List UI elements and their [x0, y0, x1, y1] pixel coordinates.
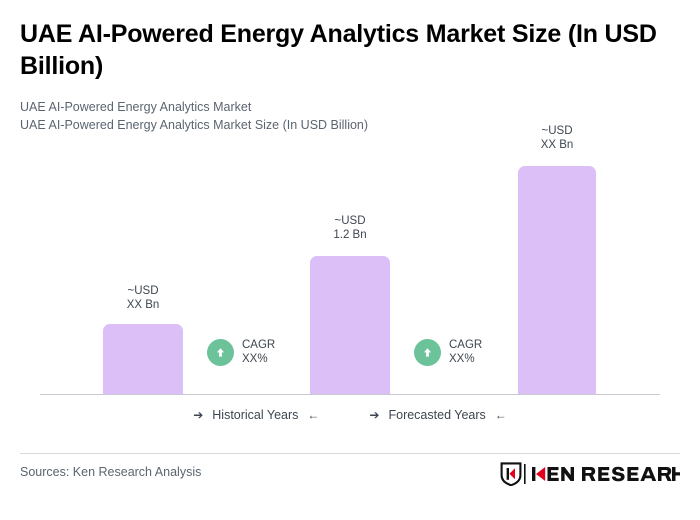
bar-value-label-2-line1: ~USD — [310, 214, 390, 228]
ken-research-logo — [500, 462, 680, 486]
period-legend: ➔ Historical Years ← ➔ Forecasted Years … — [0, 408, 700, 422]
cagr-annotation-1-line1: CAGR — [242, 338, 275, 352]
cagr-annotation-1-line2: XX% — [242, 352, 275, 366]
bar-value-label-2: ~USD 1.2 Bn — [310, 214, 390, 242]
chart-plot-area: ~USD XX Bn ~USD 1.2 Bn ~USD XX Bn CAGR X… — [0, 0, 700, 430]
footer-divider — [20, 453, 680, 454]
bar-value-label-1-line1: ~USD — [103, 284, 183, 298]
ken-research-shield-icon — [500, 462, 522, 486]
cagr-annotation-1-text: CAGR XX% — [242, 338, 275, 366]
ken-research-wordmark — [522, 462, 680, 486]
arrow-up-icon — [414, 339, 441, 366]
cagr-annotation-1: CAGR XX% — [207, 338, 275, 366]
cagr-annotation-2-text: CAGR XX% — [449, 338, 482, 366]
arrow-right-icon: ➔ — [193, 409, 203, 421]
period-forecasted-years-label: Forecasted Years — [388, 408, 485, 422]
arrow-left-icon: ← — [495, 409, 507, 421]
period-historical-years: ➔ Historical Years ← — [193, 408, 319, 422]
bar-3 — [518, 166, 596, 395]
period-historical-years-label: Historical Years — [212, 408, 298, 422]
bar-value-label-3-line2: XX Bn — [518, 138, 596, 152]
cagr-annotation-2-line1: CAGR — [449, 338, 482, 352]
sources-text: Sources: Ken Research Analysis — [20, 465, 201, 479]
bar-value-label-1-line2: XX Bn — [103, 298, 183, 312]
arrow-up-icon — [207, 339, 234, 366]
cagr-annotation-2: CAGR XX% — [414, 338, 482, 366]
bar-value-label-3-line1: ~USD — [518, 124, 596, 138]
bar-1 — [103, 324, 183, 395]
period-forecasted-years: ➔ Forecasted Years ← — [369, 408, 506, 422]
arrow-right-icon: ➔ — [369, 409, 379, 421]
arrow-left-icon: ← — [307, 409, 319, 421]
bar-value-label-1: ~USD XX Bn — [103, 284, 183, 312]
bar-value-label-3: ~USD XX Bn — [518, 124, 596, 152]
axis-baseline — [40, 394, 660, 395]
cagr-annotation-2-line2: XX% — [449, 352, 482, 366]
bar-value-label-2-line2: 1.2 Bn — [310, 228, 390, 242]
bar-2 — [310, 256, 390, 395]
